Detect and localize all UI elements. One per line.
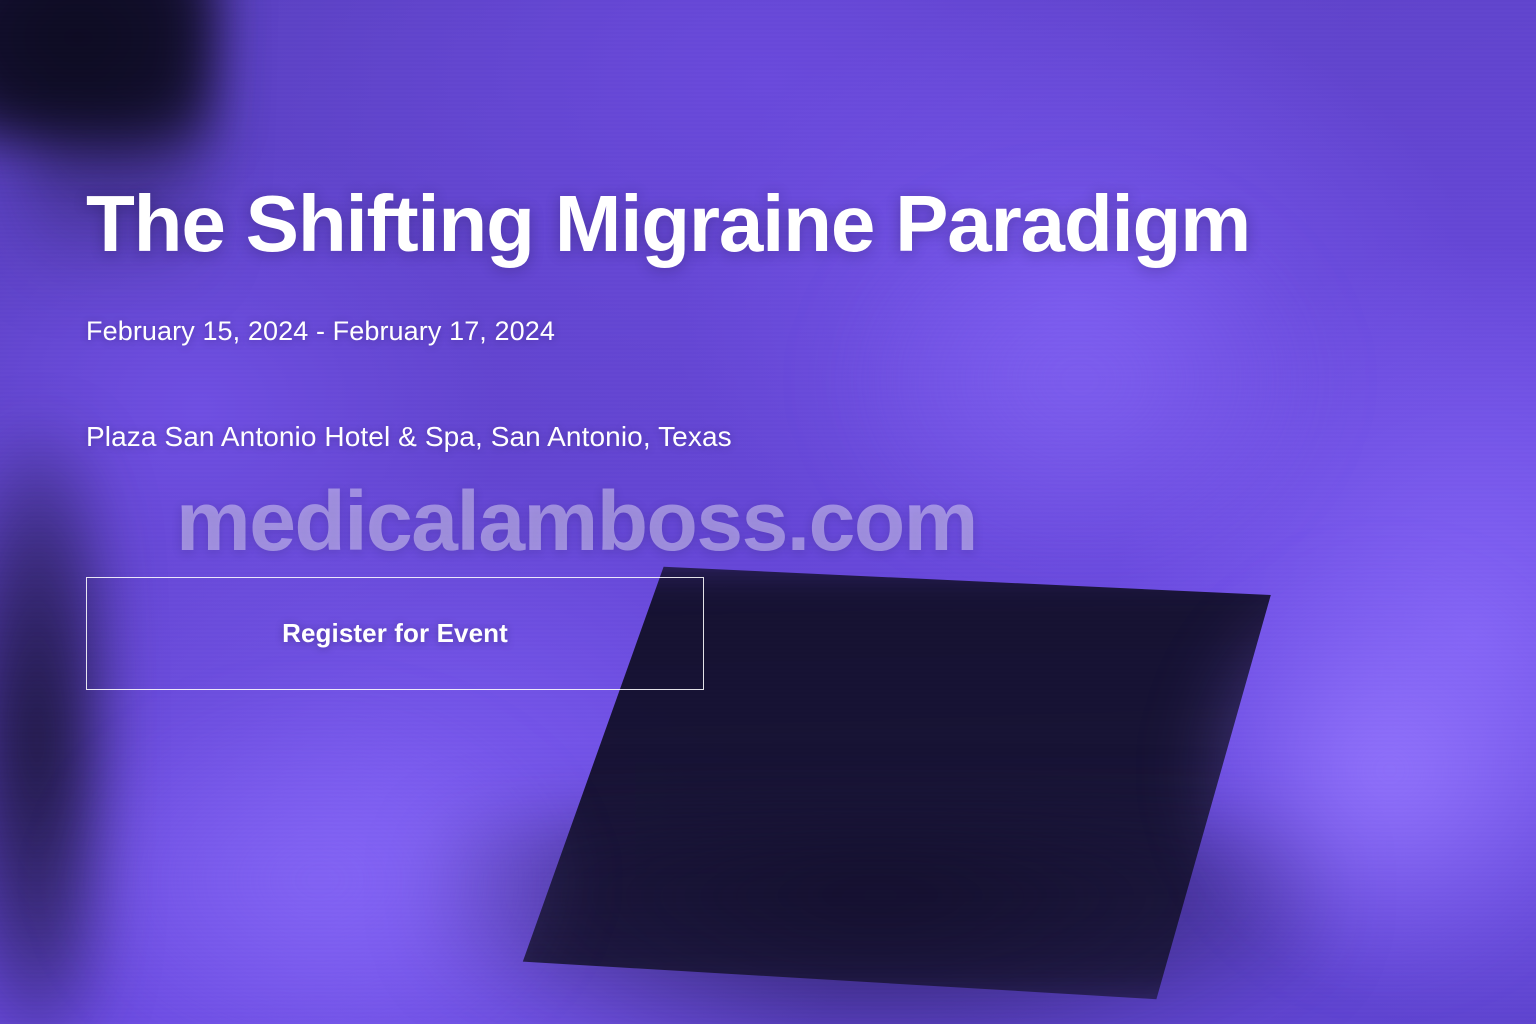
register-for-event-button[interactable]: Register for Event xyxy=(86,577,704,690)
page-title: The Shifting Migraine Paradigm xyxy=(86,180,1250,268)
site-watermark: medicalamboss.com xyxy=(176,479,977,563)
banner-content: The Shifting Migraine Paradigm February … xyxy=(0,0,1536,1024)
event-venue: Plaza San Antonio Hotel & Spa, San Anton… xyxy=(86,421,732,453)
event-hero-banner: The Shifting Migraine Paradigm February … xyxy=(0,0,1536,1024)
event-dates: February 15, 2024 - February 17, 2024 xyxy=(86,316,555,347)
